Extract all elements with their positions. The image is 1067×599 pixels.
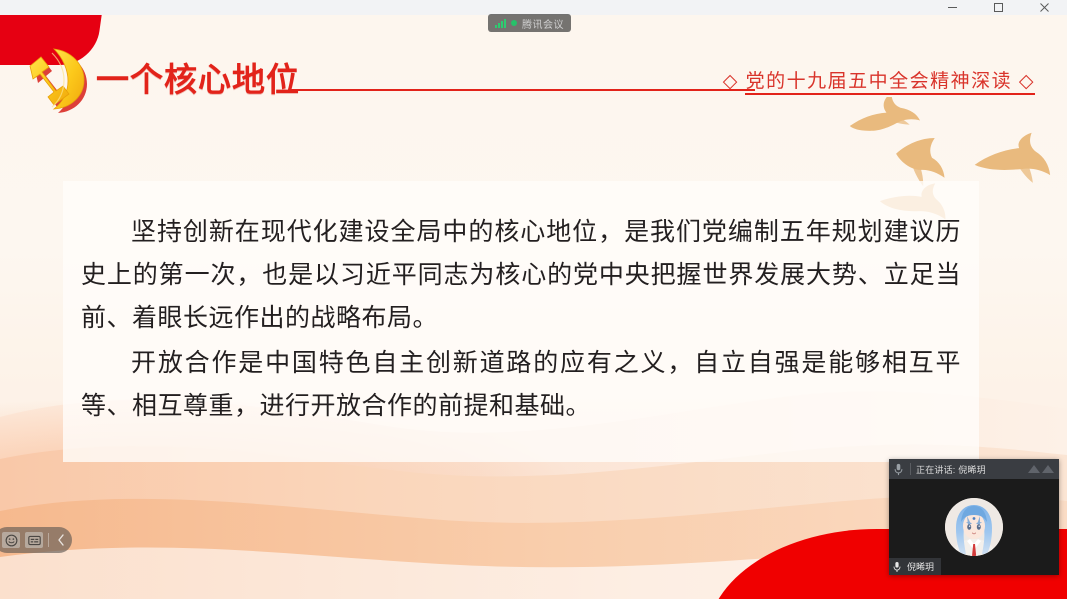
meeting-app-label: 腾讯会议 xyxy=(522,16,564,31)
body-paragraph: 开放合作是中国特色自主创新道路的应有之义，自立自强是能够相互平等、相互尊重，进行… xyxy=(81,342,961,428)
window-title-bar xyxy=(0,0,1067,15)
minimize-icon[interactable] xyxy=(929,0,975,15)
window-controls xyxy=(929,0,1067,15)
signal-bars-icon xyxy=(495,19,506,28)
recording-status-dot xyxy=(511,20,517,26)
party-emblem-icon xyxy=(16,47,98,117)
chevron-left-icon[interactable] xyxy=(54,530,68,550)
slide-content-card: 坚持创新在现代化建设全局中的核心地位，是我们党编制五年规划建议历史上的第一次，也… xyxy=(63,181,979,462)
presentation-slide: 一个核心地位 ◇ 党的十九届五中全会精神深读 ◇ 坚持创新在现代化建设全局中的核… xyxy=(0,15,1067,599)
page-title: 一个核心地位 xyxy=(96,63,300,96)
toolbar-divider xyxy=(48,533,49,547)
speaking-status-label: 正在讲话: 倪晞玥 xyxy=(916,463,986,476)
user-avatar-icon xyxy=(945,498,1003,556)
title-underline-rule xyxy=(290,89,755,91)
screen-share-view: 一个核心地位 ◇ 党的十九届五中全会精神深读 ◇ 坚持创新在现代化建设全局中的核… xyxy=(0,0,1067,599)
audio-wave-icon xyxy=(1028,465,1054,473)
body-paragraph: 坚持创新在现代化建设全局中的核心地位，是我们党编制五年规划建议历史上的第一次，也… xyxy=(81,211,961,340)
tencent-meeting-badge[interactable]: 腾讯会议 xyxy=(488,14,571,32)
microphone-on-icon xyxy=(893,561,903,573)
microphone-icon xyxy=(894,463,905,476)
header-divider xyxy=(910,463,911,475)
slide-subtitle: ◇ 党的十九届五中全会精神深读 ◇ xyxy=(723,66,1035,93)
participant-name-chip: 倪晞玥 xyxy=(889,558,941,575)
video-panel-header: 正在讲话: 倪晞玥 xyxy=(889,459,1059,479)
participant-name: 倪晞玥 xyxy=(907,560,934,573)
subtitle-underline-rule xyxy=(745,93,1035,95)
smiley-icon[interactable] xyxy=(2,532,20,548)
floating-annotation-toolbar[interactable] xyxy=(0,527,72,553)
participant-video-panel[interactable]: 正在讲话: 倪晞玥 xyxy=(889,459,1059,575)
close-icon[interactable] xyxy=(1021,0,1067,15)
video-panel-body[interactable]: 倪晞玥 xyxy=(889,479,1059,575)
maximize-icon[interactable] xyxy=(975,0,1021,15)
caption-icon[interactable] xyxy=(25,532,43,548)
